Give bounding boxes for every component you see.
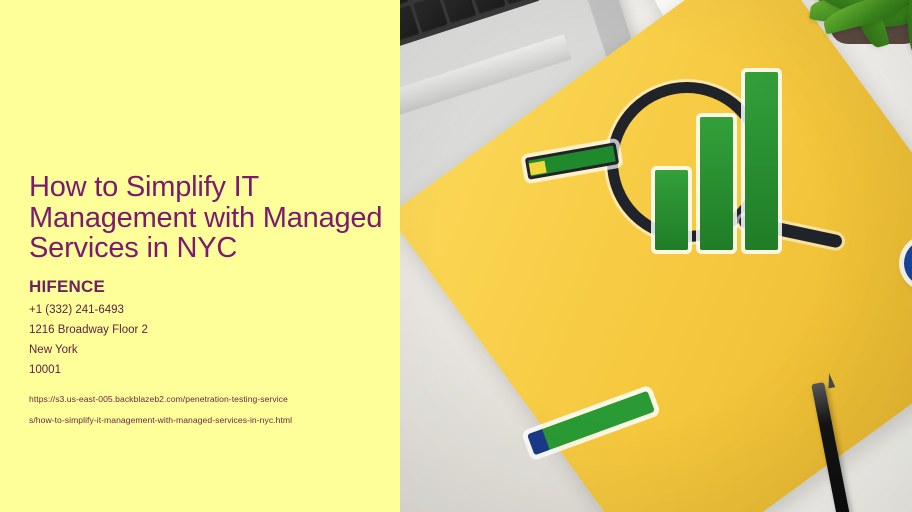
bar-2 xyxy=(700,117,733,250)
banner-primary: MINCALF FNRIA xyxy=(904,234,912,287)
company-name: HIFENCE xyxy=(29,277,400,297)
green-marker-icon-top xyxy=(525,142,619,180)
company-city: New York xyxy=(29,340,400,360)
bar-chart-icon xyxy=(655,70,790,250)
source-url[interactable]: https://s3.us-east-005.backblazeb2.com/p… xyxy=(29,389,374,431)
hero-photo: FF MIN xyxy=(400,0,912,512)
company-phone[interactable]: +1 (332) 241-6493 xyxy=(29,300,400,320)
source-url-line-2[interactable]: s/how-to-simplify-it-management-with-man… xyxy=(29,410,374,431)
article-preview-card: How to Simplify IT Management with Manag… xyxy=(0,0,912,512)
card-graphics: MINCALF FNRIA HRCDALIAT CPINY xyxy=(400,0,912,512)
left-text-panel: How to Simplify IT Management with Manag… xyxy=(0,0,400,512)
text-stack: How to Simplify IT Management with Manag… xyxy=(29,172,400,431)
source-url-line-1[interactable]: https://s3.us-east-005.backblazeb2.com/p… xyxy=(29,389,374,410)
page-title: How to Simplify IT Management with Manag… xyxy=(29,172,400,264)
bar-1 xyxy=(655,170,688,250)
green-marker-icon-bottom xyxy=(527,391,655,455)
photo-scene: FF MIN xyxy=(400,0,912,512)
bar-3 xyxy=(745,72,778,250)
company-zip: 10001 xyxy=(29,360,400,380)
company-address-line: 1216 Broadway Floor 2 xyxy=(29,320,400,340)
